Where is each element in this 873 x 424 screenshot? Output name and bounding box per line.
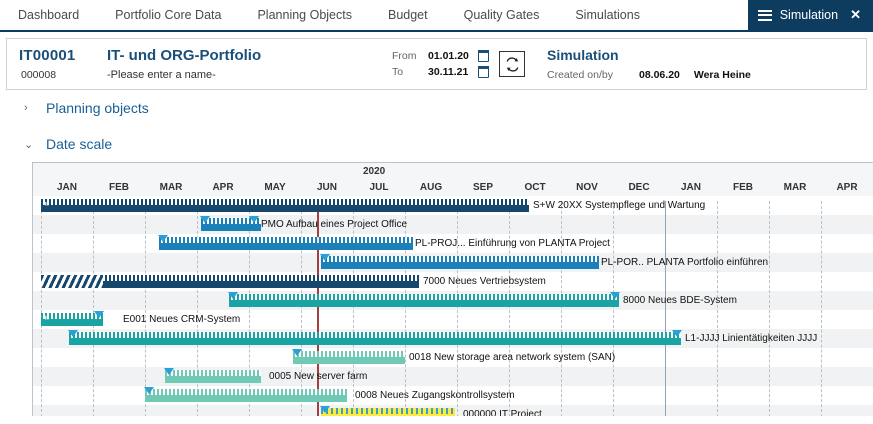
milestone-marker [200,216,210,223]
simulation-info-block: Simulation Created on/by 08.06.20 Wera H… [547,47,751,81]
menu-icon[interactable] [758,10,772,21]
section-date-scale-label: Date scale [46,136,112,152]
year-label: 2020 [363,166,385,177]
gantt-bar-label: 0018 New storage area network system (SA… [409,351,615,364]
tab-simulation-label: Simulation [780,8,838,22]
bar-fill [69,338,681,345]
refresh-simulation-button[interactable] [499,51,525,77]
gantt-bar-label: E001 Neues CRM-System [123,313,240,326]
bar-overflow-left-icon: « [44,198,47,208]
gantt-row[interactable] [33,215,873,234]
gantt-bar-label: 8000 Neues BDE-System [623,294,737,307]
bar-fill [321,262,599,269]
month-tick-label: FEB [93,182,145,193]
bar-fill [159,243,413,250]
gantt-bar[interactable] [321,256,599,269]
calendar-icon[interactable] [478,51,489,62]
from-label: From [392,50,420,62]
milestone-marker [320,254,330,261]
gantt-bar[interactable] [69,332,681,345]
section-date-scale[interactable]: ⌄ Date scale [0,126,873,162]
portfolio-name-block: IT- und ORG-Portfolio -Please enter a na… [107,47,392,81]
portfolio-number: 000008 [19,69,107,81]
milestone-marker [249,216,259,223]
gantt-bar-label: PL-POR.. PLANTA Portfolio einführen [601,256,768,269]
grid-line [717,201,718,416]
milestone-marker [228,292,238,299]
portfolio-id-block: IT00001 000008 [7,47,107,81]
gantt-bar[interactable] [159,237,413,250]
year-divider-line [665,201,666,416]
month-tick-label: SEP [457,182,509,193]
created-row: Created on/by 08.06.20 Wera Heine [547,69,751,81]
gantt-bar-label: S+W 20XX Systempflege und Wartung [533,199,705,212]
bar-fill [229,300,619,307]
grid-line [93,201,94,416]
gantt-chart[interactable]: 2020JANFEBMARAPRMAYJUNJULAUGSEPOCTNOVDEC… [32,162,873,416]
tab-quality-gates[interactable]: Quality Gates [456,0,568,30]
portfolio-id: IT00001 [19,47,107,64]
grid-line [561,201,562,416]
tab-budget[interactable]: Budget [380,0,456,30]
tab-planning-objects[interactable]: Planning Objects [249,0,380,30]
grid-line [353,201,354,416]
grid-line [769,201,770,416]
bar-overflow-left-icon: « [44,312,47,322]
tab-list: Dashboard Portfolio Core Data Planning O… [0,0,748,30]
created-label: Created on/by [547,69,625,81]
gantt-bar-label: 7000 Neues Vertriebsystem [423,275,546,288]
tab-simulations[interactable]: Simulations [567,0,668,30]
from-value[interactable]: 01.01.20 [428,50,470,62]
refresh-icon [504,56,521,73]
grid-line [821,201,822,416]
month-tick-label: APR [197,182,249,193]
chevron-right-icon[interactable]: › [24,102,34,114]
gantt-bar-label: 0008 Neues Zugangskontrollsystem [355,389,515,402]
portfolio-header: IT00001 000008 IT- und ORG-Portfolio -Pl… [6,38,867,90]
gantt-bar[interactable] [145,389,347,402]
portfolio-name: IT- und ORG-Portfolio [107,47,392,64]
grid-line [145,201,146,416]
calendar-icon[interactable] [478,67,489,78]
to-label: To [392,66,420,78]
tab-simulation-active[interactable]: Simulation ✕ [748,0,873,30]
bar-fill [41,205,529,212]
section-planning-objects[interactable]: › Planning objects [0,90,873,126]
grid-line [509,201,510,416]
simulation-title: Simulation [547,47,751,63]
gantt-bar-label: 000000 IT Project [463,408,542,416]
bar-fill [201,224,261,231]
month-tick-label: AUG [405,182,457,193]
milestone-marker [164,368,174,375]
bar-fill [41,319,103,326]
month-tick-label: MAR [769,182,821,193]
tab-portfolio-core-data[interactable]: Portfolio Core Data [107,0,249,30]
date-to-row: To 30.11.21 [392,66,489,78]
month-tick-label: NOV [561,182,613,193]
gantt-row[interactable] [33,367,873,386]
gantt-bar-label: PMO Aufbau eines Project Office [261,218,407,231]
month-tick-label: JUL [353,182,405,193]
section-planning-objects-label: Planning objects [46,100,149,116]
bar-fill [165,376,261,383]
today-line [317,201,319,416]
gantt-bar[interactable] [321,408,455,416]
gantt-bar[interactable] [229,294,619,307]
grid-line [249,201,250,416]
chevron-down-icon[interactable]: ⌄ [24,138,34,151]
month-tick-label: JAN [665,182,717,193]
gantt-bar[interactable]: « [41,199,529,212]
tab-dashboard[interactable]: Dashboard [14,0,107,30]
to-value[interactable]: 30.11.21 [428,66,470,78]
grid-line [301,201,302,416]
date-from-row: From 01.01.20 [392,50,489,62]
bar-hatch [41,275,103,288]
grid-line [613,201,614,416]
gantt-bar-label: PL-PROJ... Einführung von PLANTA Project [415,237,610,250]
milestone-marker [144,387,154,394]
tab-bar: Dashboard Portfolio Core Data Planning O… [0,0,873,32]
month-tick-label: FEB [717,182,769,193]
close-icon[interactable]: ✕ [850,7,861,23]
date-range-block: From 01.01.20 To 30.11.21 [392,50,489,78]
portfolio-name-placeholder[interactable]: -Please enter a name- [107,69,392,81]
month-tick-label: OCT [509,182,561,193]
grid-line [405,201,406,416]
milestone-marker [292,349,302,356]
milestone-marker [158,235,168,242]
gantt-bar[interactable] [293,351,405,364]
gantt-bar-label: 0005 New server farm [269,370,367,383]
month-tick-label: MAR [145,182,197,193]
month-tick-label: APR [821,182,873,193]
gantt-bar-label: L1-JJJJ Linientätigkeiten JJJJ [685,332,817,345]
milestone-marker [94,311,104,318]
bar-fill [145,395,347,402]
grid-line [41,201,42,416]
gantt-rows[interactable]: «S+W 20XX Systempflege und WartungPMO Au… [33,201,873,416]
month-tick-label: MAY [249,182,301,193]
milestone-marker [610,292,620,299]
gantt-bar[interactable] [41,275,419,288]
created-by: Wera Heine [694,69,751,81]
milestone-marker [320,406,330,413]
created-date: 08.06.20 [639,69,680,81]
milestone-marker [672,330,682,337]
month-tick-label: JAN [41,182,93,193]
month-tick-label: DEC [613,182,665,193]
bar-fill [321,414,455,416]
milestone-marker [68,330,78,337]
bar-fill [293,357,405,364]
grid-line [457,201,458,416]
gantt-bar[interactable] [165,370,261,383]
grid-line [197,201,198,416]
month-tick-label: JUN [301,182,353,193]
